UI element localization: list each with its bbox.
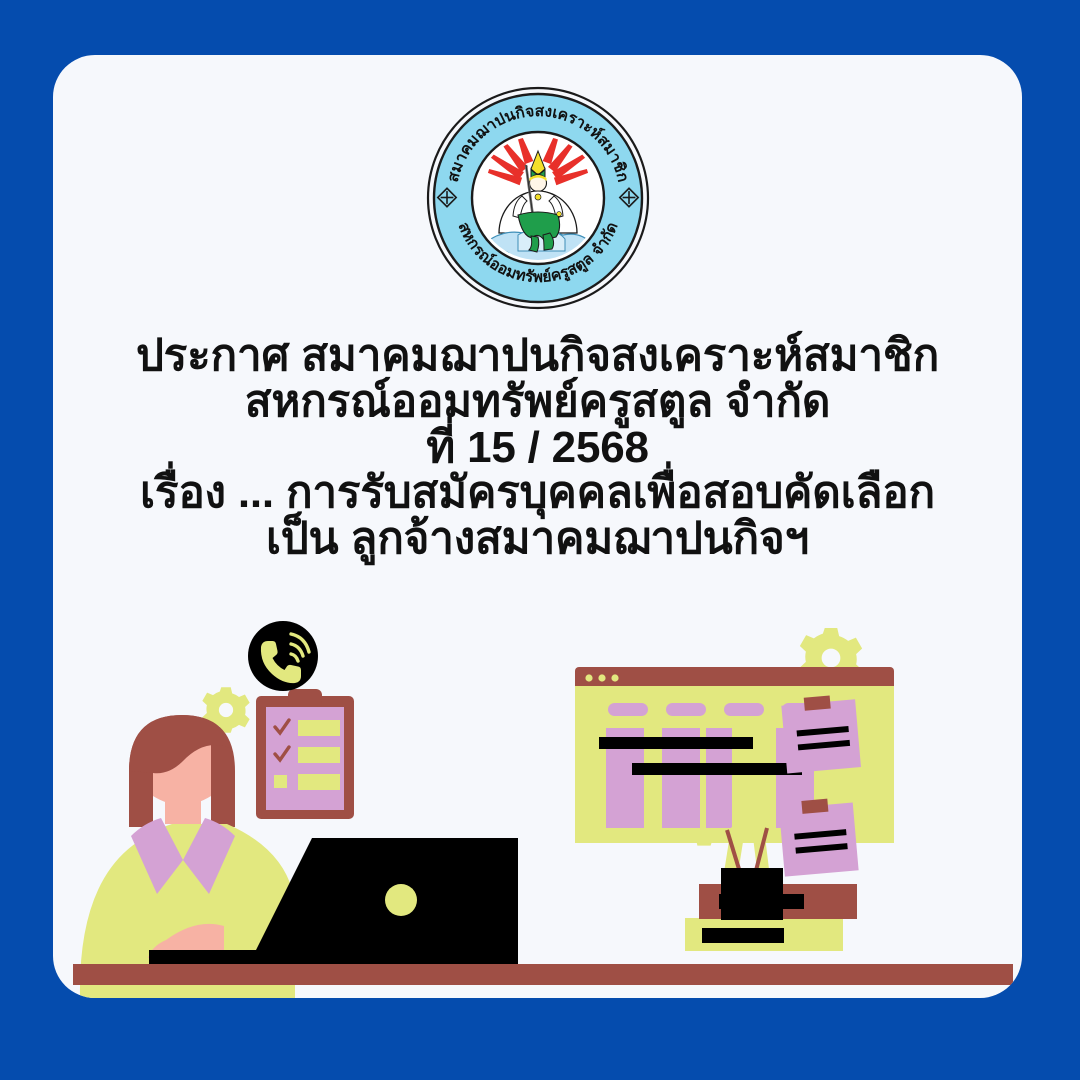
window-dot-3 <box>611 674 618 681</box>
laptop-logo-dot <box>385 884 417 916</box>
heading-line-3-number: ที่ 15 / 2568 <box>53 425 1022 471</box>
clipboard-icon <box>256 689 354 819</box>
window-bar-2 <box>632 763 802 775</box>
window-tab-2 <box>666 703 706 716</box>
window-tab-1 <box>608 703 648 716</box>
sticky-note-icon <box>778 797 858 877</box>
pen-cup <box>721 868 783 920</box>
window-dot-1 <box>585 674 592 681</box>
heading-line-5: เป็น ลูกจ้างสมาคมฌาปนกิจฯ <box>53 516 1022 562</box>
heading-line-4-subject: เรื่อง ... การรับสมัครบุคคลเพื่อสอบคัดเล… <box>53 470 1022 516</box>
heading-line-2: สหกรณ์ออมทรัพย์ครูสตูล จำกัด <box>53 379 1022 425</box>
desk-surface <box>73 964 1013 985</box>
heading-line-1: ประกาศ สมาคมฌาปนกิจสงเคราะห์สมาชิก <box>53 333 1022 379</box>
phone-icon <box>248 621 318 691</box>
office-illustration <box>53 600 1022 998</box>
neck <box>165 790 201 824</box>
unchecked-box-icon <box>274 775 287 788</box>
sticky-note-icon <box>781 693 861 773</box>
announcement-card: สมาคมฌาปนกิจสงเคราะห์สมาชิก สหกรณ์ออมทรั… <box>53 55 1022 998</box>
laptop-base <box>149 950 518 964</box>
cooperative-emblem: สมาคมฌาปนกิจสงเคราะห์สมาชิก สหกรณ์ออมทรั… <box>423 83 653 313</box>
poster-root: สมาคมฌาปนกิจสงเคราะห์สมาชิก สหกรณ์ออมทรั… <box>0 0 1080 1080</box>
window-tab-3 <box>724 703 764 716</box>
announcement-heading-block: ประกาศ สมาคมฌาปนกิจสงเคราะห์สมาชิก สหกรณ… <box>53 333 1022 562</box>
window-bar-1 <box>599 737 753 749</box>
window-dot-2 <box>598 674 605 681</box>
